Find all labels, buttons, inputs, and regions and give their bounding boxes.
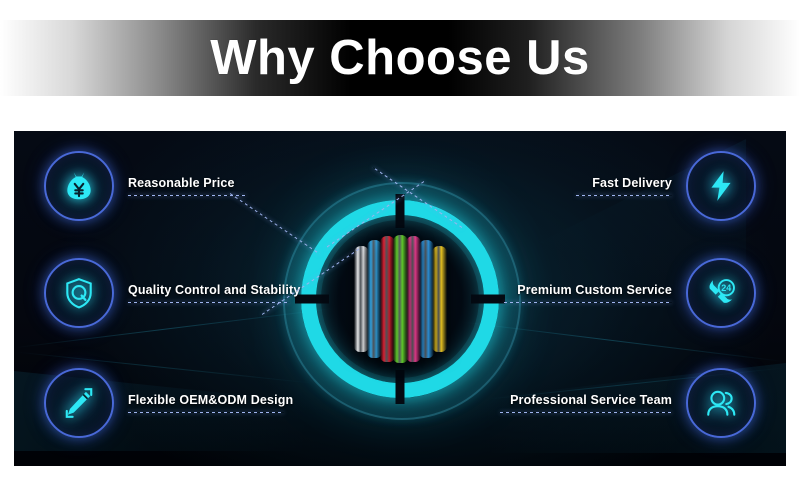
feature-dash-underline	[128, 195, 246, 196]
feature-label: Professional Service Team	[500, 393, 672, 407]
lightning-bolt-icon	[686, 151, 756, 221]
feature-item-fast-delivery[interactable]: Fast Delivery	[566, 150, 756, 222]
feature-item-quality-control[interactable]: Quality Control and Stability	[44, 257, 310, 329]
page-title: Why Choose Us	[0, 20, 800, 96]
people-team-icon	[686, 368, 756, 438]
phone-24h-glyph: 24	[704, 276, 738, 310]
feature-text-block: Flexible OEM&ODM Design	[118, 393, 303, 413]
feature-text-block: Professional Service Team	[490, 393, 682, 413]
poster-root: Why Choose Us	[0, 0, 800, 486]
feature-item-professional-service-team[interactable]: Professional Service Team	[490, 367, 756, 439]
lightning-bolt-glyph	[704, 169, 738, 203]
feature-text-block: Fast Delivery	[566, 176, 682, 196]
feature-label: Quality Control and Stability	[128, 283, 300, 297]
feature-dash-underline	[500, 412, 672, 413]
feature-dash-underline	[128, 302, 300, 303]
yellow-roll	[432, 246, 447, 352]
feature-label: Premium Custom Service	[504, 283, 672, 297]
blue-roll	[419, 240, 434, 358]
feature-text-block: Reasonable Price	[118, 176, 256, 196]
people-team-glyph	[704, 386, 738, 420]
feature-item-oem-odm-design[interactable]: Flexible OEM&ODM Design	[44, 367, 303, 439]
shield-q-icon	[44, 258, 114, 328]
money-bag-yen-glyph	[62, 169, 96, 203]
feature-item-reasonable-price[interactable]: Reasonable Price	[44, 150, 256, 222]
phone-badge-24: 24	[721, 283, 731, 293]
feature-label: Flexible OEM&ODM Design	[128, 393, 293, 407]
feature-label: Fast Delivery	[576, 176, 672, 190]
feature-dash-underline	[504, 302, 672, 303]
pink-roll	[406, 236, 421, 362]
phone-24h-icon: 24	[686, 258, 756, 328]
feature-item-premium-custom-service[interactable]: 24 Premium Custom Service	[494, 257, 756, 329]
feature-text-block: Premium Custom Service	[494, 283, 682, 303]
feature-dash-underline	[576, 195, 672, 196]
feature-panel: Reasonable Price Quality Control and Sta…	[14, 131, 786, 466]
feature-dash-underline	[128, 412, 293, 413]
money-bag-yen-icon	[44, 151, 114, 221]
center-graphic	[275, 174, 525, 424]
design-pencil-glyph	[62, 386, 96, 420]
shield-q-glyph	[62, 276, 96, 310]
film-rolls-group	[336, 235, 464, 363]
green-roll	[393, 235, 408, 363]
design-pencil-icon	[44, 368, 114, 438]
feature-label: Reasonable Price	[128, 176, 246, 190]
